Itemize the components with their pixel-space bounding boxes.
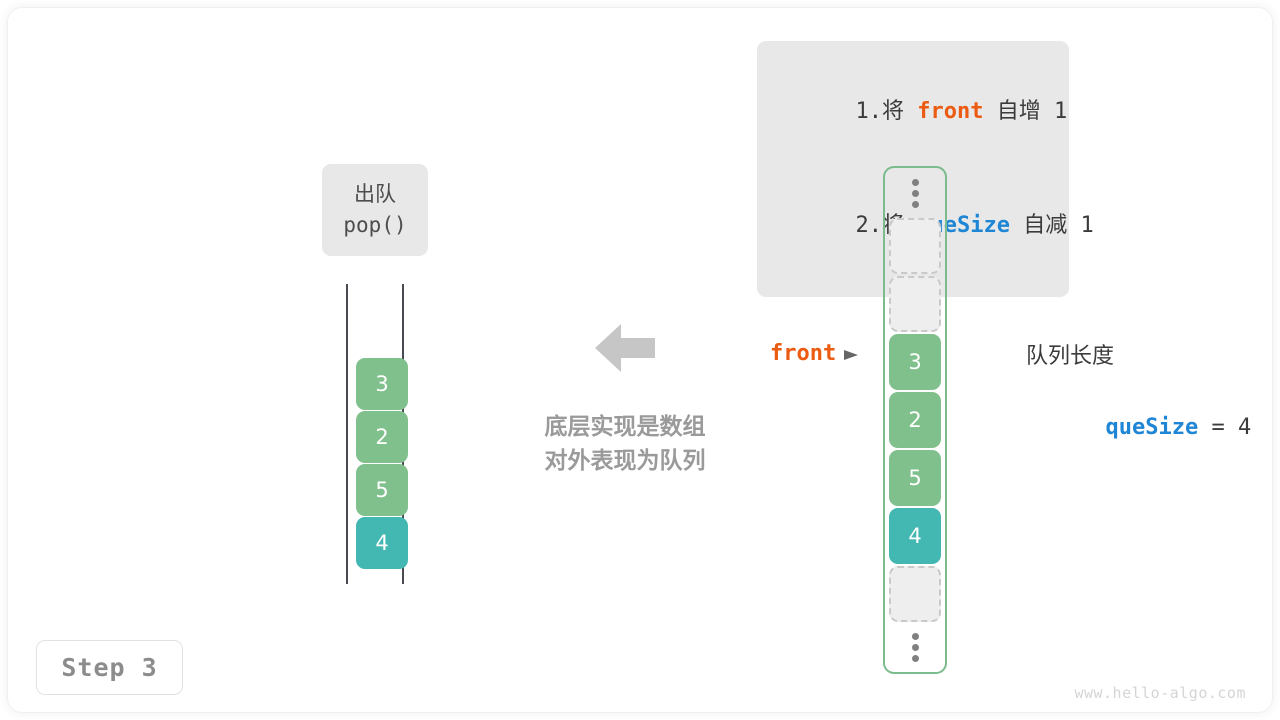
array-cell: 3 [889,334,941,390]
step-badge: Step 3 [36,640,183,695]
array-cell-empty [889,276,941,332]
diagram-canvas: 1.将 front 自增 1 2.将 queSize 自减 1 出队 pop()… [0,0,1280,720]
quesize-var-name: queSize [1105,415,1198,440]
array-cell: 4 [889,508,941,564]
step-badge-label: Step 3 [61,653,157,682]
queue-cell: 2 [356,411,408,463]
queue-cell: 3 [356,358,408,410]
arrow-right-icon [844,347,860,361]
array-cell: 5 [889,450,941,506]
quesize-info: 队列长度 queSize = 4 [1026,340,1251,482]
array-top-ellipsis-icon [912,168,919,218]
ellipsis-dot [912,190,919,197]
left-arrow-icon [595,320,655,376]
instruction-1-text-after: 自增 1 [983,99,1067,124]
queue-rail-left [346,284,348,584]
instruction-1-keyword-front: front [917,99,983,124]
ellipsis-dot [912,633,919,640]
instruction-line-1: 1.将 front 自增 1 [757,55,1069,169]
quesize-info-label: 队列长度 [1026,340,1251,374]
ellipsis-dot [912,655,919,662]
array-cell: 2 [889,392,941,448]
instruction-1-index: 1. [855,99,882,124]
operation-label-box: 出队 pop() [322,164,428,256]
quesize-info-expression: queSize = 4 [1026,374,1251,482]
front-pointer-label: front [770,341,836,366]
instruction-2-text-after: 自减 1 [1010,213,1094,238]
queue-cell: 4 [356,517,408,569]
queue-cell: 5 [356,464,408,516]
array-cell-empty [889,218,941,274]
queue-cell-list: 3 2 5 4 [356,358,408,569]
caption-line-2: 对外表现为队列 [510,444,740,478]
queue-column: 3 2 5 4 [340,284,410,584]
front-pointer: front [770,341,860,366]
array-container: 3 2 5 4 [883,166,947,674]
center-caption: 底层实现是数组 对外表现为队列 [510,410,740,478]
quesize-equals: = [1198,415,1238,440]
array-cell-empty [889,566,941,622]
ellipsis-dot [912,179,919,186]
operation-label-method: pop() [343,210,406,241]
caption-line-1: 底层实现是数组 [510,410,740,444]
instruction-1-text-before: 将 [882,99,917,124]
ellipsis-dot [912,644,919,651]
ellipsis-dot [912,201,919,208]
array-bottom-ellipsis-icon [912,622,919,672]
watermark: www.hello-algo.com [1074,684,1246,702]
instruction-2-index: 2. [855,213,882,238]
quesize-value: 4 [1238,415,1251,440]
operation-label-title: 出队 [354,179,396,210]
